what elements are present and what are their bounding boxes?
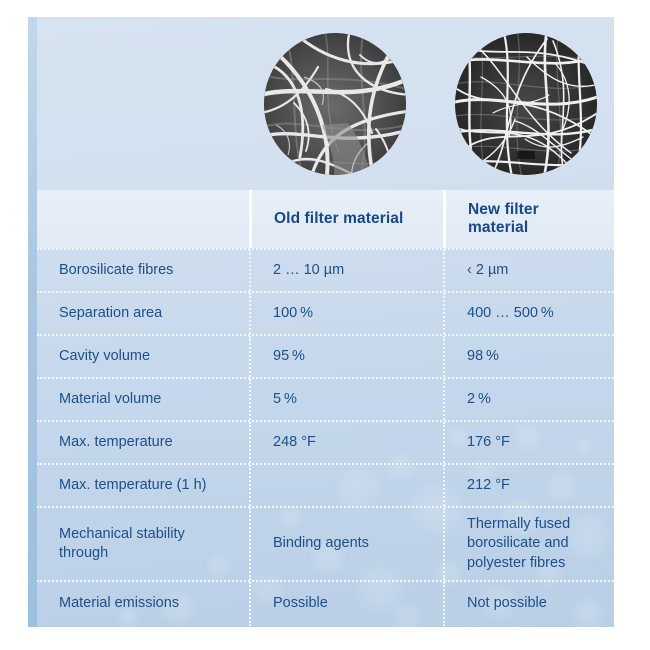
cell-text: 2 … 10 µm — [273, 261, 344, 280]
cell-text: Mechanical stability through — [59, 525, 237, 563]
cell-text: 176 °F — [467, 433, 510, 452]
cell-text: Max. temperature (1 h) — [59, 476, 206, 495]
cell-new: 212 °F — [443, 465, 614, 506]
cell-property: Material volume — [37, 379, 249, 420]
cell-text: 2 % — [467, 390, 491, 409]
cell-old: 5 % — [249, 379, 443, 420]
cell-new: ‹ 2 µm — [443, 250, 614, 291]
header-cell-new: New filter material — [443, 190, 614, 248]
cell-property: Material emissions — [37, 582, 249, 626]
cell-new: 2 % — [443, 379, 614, 420]
table-row: Separation area 100 % 400 … 500 % — [37, 291, 614, 334]
table-row: Material volume 5 % 2 % — [37, 377, 614, 420]
comparison-table: Old filter material New filter material … — [37, 190, 614, 626]
cell-old: 100 % — [249, 293, 443, 334]
cell-old: 248 °F — [249, 422, 443, 463]
cell-property: Separation area — [37, 293, 249, 334]
cell-new: 176 °F — [443, 422, 614, 463]
table-row: Cavity volume 95 % 98 % — [37, 334, 614, 377]
header-label-new: New filter material — [468, 201, 602, 237]
cell-text: Borosilicate fibres — [59, 261, 173, 280]
cell-text: Not possible — [467, 594, 547, 613]
cell-text: Thermally fused borosilicate and polyest… — [467, 515, 602, 572]
cell-old — [249, 465, 443, 506]
header-label-old: Old filter material — [274, 210, 403, 228]
table-header-row: Old filter material New filter material — [37, 190, 614, 248]
cell-old: Binding agents — [249, 508, 443, 580]
cell-text: 5 % — [273, 390, 297, 409]
cell-property: Borosilicate fibres — [37, 250, 249, 291]
table-row: Max. temperature 248 °F 176 °F — [37, 420, 614, 463]
cell-old: 2 … 10 µm — [249, 250, 443, 291]
cell-text: Possible — [273, 594, 328, 613]
cell-text: Separation area — [59, 304, 162, 323]
cell-text: ‹ 2 µm — [467, 261, 508, 280]
figure-root: Old filter material New filter material … — [0, 0, 650, 650]
header-cell-old: Old filter material — [249, 190, 443, 248]
cell-property: Mechanical stability through — [37, 508, 249, 580]
table-row: Material emissions Possible Not possible — [37, 580, 614, 626]
cell-text: 248 °F — [273, 433, 316, 452]
cell-text: 95 % — [273, 347, 305, 366]
left-accent-band — [28, 17, 37, 627]
header-cell-property — [37, 190, 249, 248]
cell-text: Max. temperature — [59, 433, 173, 452]
cell-text: Cavity volume — [59, 347, 150, 366]
cell-property: Max. temperature (1 h) — [37, 465, 249, 506]
cell-text: 212 °F — [467, 476, 510, 495]
cell-property: Max. temperature — [37, 422, 249, 463]
table-row: Borosilicate fibres 2 … 10 µm ‹ 2 µm — [37, 248, 614, 291]
cell-text: Material emissions — [59, 594, 179, 613]
cell-new: Thermally fused borosilicate and polyest… — [443, 508, 614, 580]
new-filter-material-micrograph — [455, 33, 597, 175]
cell-old: Possible — [249, 582, 443, 626]
cell-text: 98 % — [467, 347, 499, 366]
cell-old: 95 % — [249, 336, 443, 377]
old-filter-material-micrograph — [264, 33, 406, 175]
table-row: Mechanical stability through Binding age… — [37, 506, 614, 580]
comparison-panel: Old filter material New filter material … — [28, 17, 614, 627]
cell-text: Binding agents — [273, 534, 369, 553]
cell-text: Material volume — [59, 390, 161, 409]
cell-new: 98 % — [443, 336, 614, 377]
cell-text: 100 % — [273, 304, 313, 323]
micrograph-header — [37, 17, 614, 190]
cell-new: 400 … 500 % — [443, 293, 614, 334]
table-row: Max. temperature (1 h) 212 °F — [37, 463, 614, 506]
cell-property: Cavity volume — [37, 336, 249, 377]
cell-new: Not possible — [443, 582, 614, 626]
cell-text: 400 … 500 % — [467, 304, 554, 323]
